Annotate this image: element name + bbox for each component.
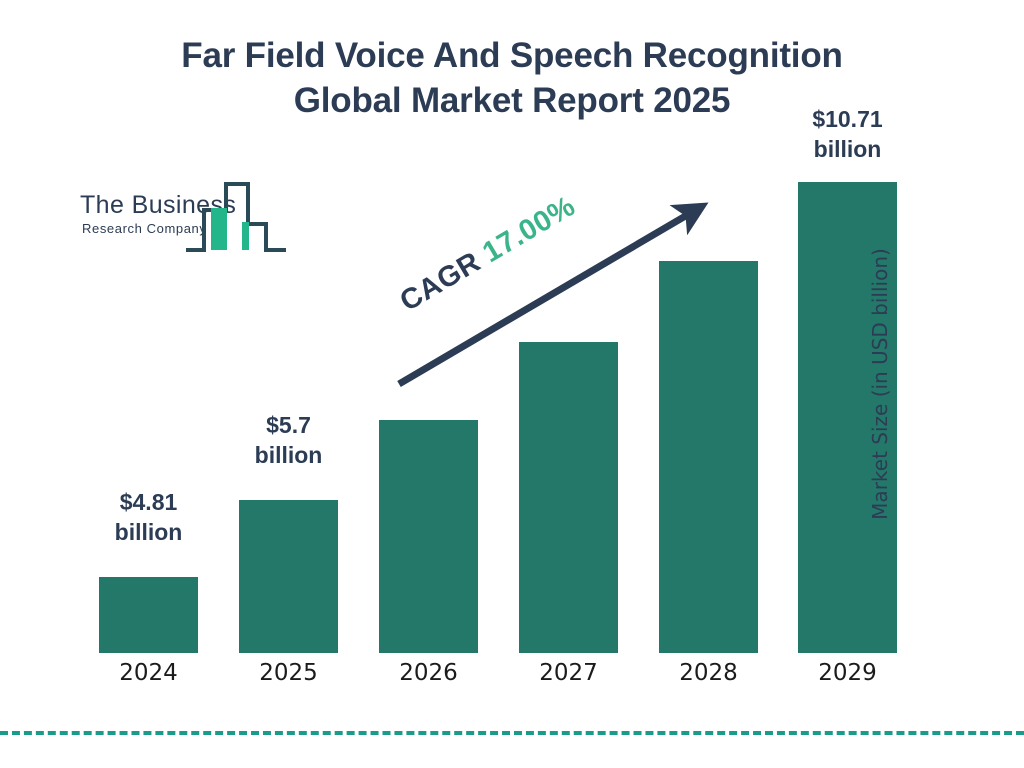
bar-value-2024-amount: $4.81 [79, 487, 218, 517]
x-tick-2029: 2029 [778, 660, 917, 686]
bar-2025 [239, 500, 338, 653]
chart-canvas: Far Field Voice And Speech Recognition G… [0, 0, 1024, 768]
x-tick-2024: 2024 [79, 660, 218, 686]
bar-value-2025: $5.7 billion [219, 410, 358, 471]
bar-2028 [659, 261, 758, 653]
cagr-value: 17.00% [477, 190, 581, 269]
bar-value-2024-unit: billion [79, 517, 218, 547]
bar-value-2024: $4.81 billion [79, 487, 218, 548]
x-tick-2026: 2026 [359, 660, 498, 686]
cagr-label: CAGR [395, 246, 487, 318]
cagr-annotation: CAGR 17.00% [395, 190, 582, 319]
x-tick-2028: 2028 [639, 660, 778, 686]
bar-2024 [99, 577, 198, 653]
bar-value-2029-unit: billion [778, 134, 917, 164]
footer-divider [0, 731, 1024, 735]
bar-chart-plot: $4.81 billion $5.7 billion $10.71 billio… [0, 0, 1024, 768]
x-tick-2027: 2027 [499, 660, 638, 686]
bar-value-2029-amount: $10.71 [778, 104, 917, 134]
bar-value-2025-amount: $5.7 [219, 410, 358, 440]
x-tick-2025: 2025 [219, 660, 358, 686]
bar-2027 [519, 342, 618, 653]
y-axis-label: Market Size (in USD billion) [868, 248, 892, 520]
bar-value-2025-unit: billion [219, 440, 358, 470]
bar-value-2029: $10.71 billion [778, 104, 917, 165]
bar-2026 [379, 420, 478, 653]
